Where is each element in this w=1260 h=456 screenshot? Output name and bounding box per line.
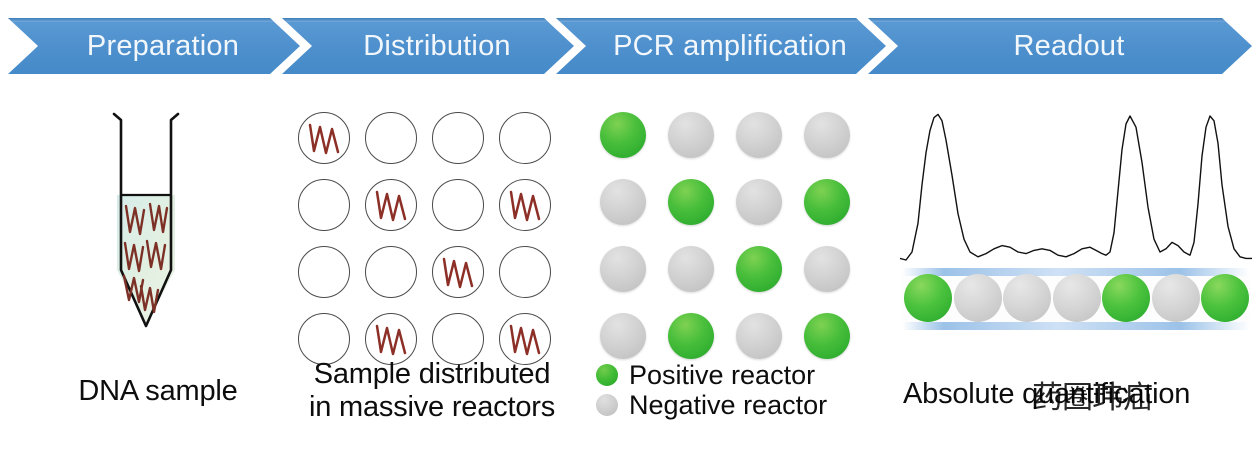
watermark-overlay: 药圈玮疝 [1032,372,1152,417]
negative-reactor-dot [600,313,646,359]
dna-squiggle-icon [506,322,546,358]
positive-reactor-dot [736,246,782,292]
chevron-highlight-icon [868,18,1252,22]
dna-squiggle-icon [506,188,546,224]
negative-bead [1053,274,1101,322]
negative-reactor-dot [736,112,782,158]
positive-bead [1201,274,1249,322]
dna-squiggle-icon [372,188,412,224]
bead-channel [902,268,1250,330]
positive-bead [904,274,952,322]
microcentrifuge-tube-icon [108,110,184,332]
caption-distribution: Sample distributed in massive reactors [282,358,582,424]
reactor-circle-occupied [432,246,484,298]
positive-dot-icon [596,364,618,386]
caption-preparation: DNA sample [58,375,258,408]
readout-illustration [900,108,1252,338]
positive-reactor-dot [804,313,850,359]
step-chevron-pcr-amplification[interactable]: PCR amplification [556,18,886,74]
reactor-circle-grid [298,112,566,334]
reactor-legend: Positive reactor Negative reactor [596,360,827,420]
channel-rail-bottom-icon [902,322,1250,330]
legend-item-negative: Negative reactor [596,390,827,420]
reactor-circle-empty [499,246,551,298]
chevron-highlight-icon [556,18,886,22]
negative-reactor-dot [736,313,782,359]
negative-reactor-dot [600,246,646,292]
workflow-step-banner: Preparation Distribution PCR amplificati… [0,18,1260,74]
step-label: Distribution [345,32,510,61]
negative-reactor-dot [668,246,714,292]
step-chevron-readout[interactable]: Readout [868,18,1252,74]
negative-dot-icon [596,394,618,416]
reactor-circle-empty [432,179,484,231]
legend-label: Positive reactor [629,362,815,389]
negative-reactor-dot [600,179,646,225]
negative-reactor-dot [736,179,782,225]
step-chevron-preparation[interactable]: Preparation [8,18,300,74]
positive-reactor-dot [668,313,714,359]
positive-reactor-dot [600,112,646,158]
figure-canvas: Preparation Distribution PCR amplificati… [0,0,1260,456]
step-label: Preparation [69,32,239,61]
dna-squiggle-icon [439,255,479,291]
chevron-highlight-icon [282,18,574,22]
dna-squiggle-icon [372,322,412,358]
negative-bead [1152,274,1200,322]
negative-bead [954,274,1002,322]
reactor-circle-occupied [499,179,551,231]
legend-item-positive: Positive reactor [596,360,827,390]
negative-reactor-dot [804,112,850,158]
step-chevron-distribution[interactable]: Distribution [282,18,574,74]
legend-label: Negative reactor [629,392,827,419]
step-label: Readout [995,32,1124,61]
reactor-circle-occupied [365,179,417,231]
negative-reactor-dot [804,246,850,292]
negative-reactor-dot [668,112,714,158]
reactor-circle-empty [499,112,551,164]
negative-bead [1003,274,1051,322]
reactor-circle-empty [298,179,350,231]
positive-reactor-dot [804,179,850,225]
reactor-circle-empty [298,246,350,298]
reactor-circle-empty [365,246,417,298]
reactor-dot-matrix [600,112,850,334]
positive-reactor-dot [668,179,714,225]
step-label: PCR amplification [595,32,847,61]
reactor-circle-empty [365,112,417,164]
reactor-circle-occupied [298,112,350,164]
reactor-circle-empty [432,112,484,164]
dna-squiggle-icon [305,121,345,157]
fluorescence-trace-chart [900,108,1252,268]
positive-bead [1102,274,1150,322]
chevron-highlight-icon [8,18,300,22]
